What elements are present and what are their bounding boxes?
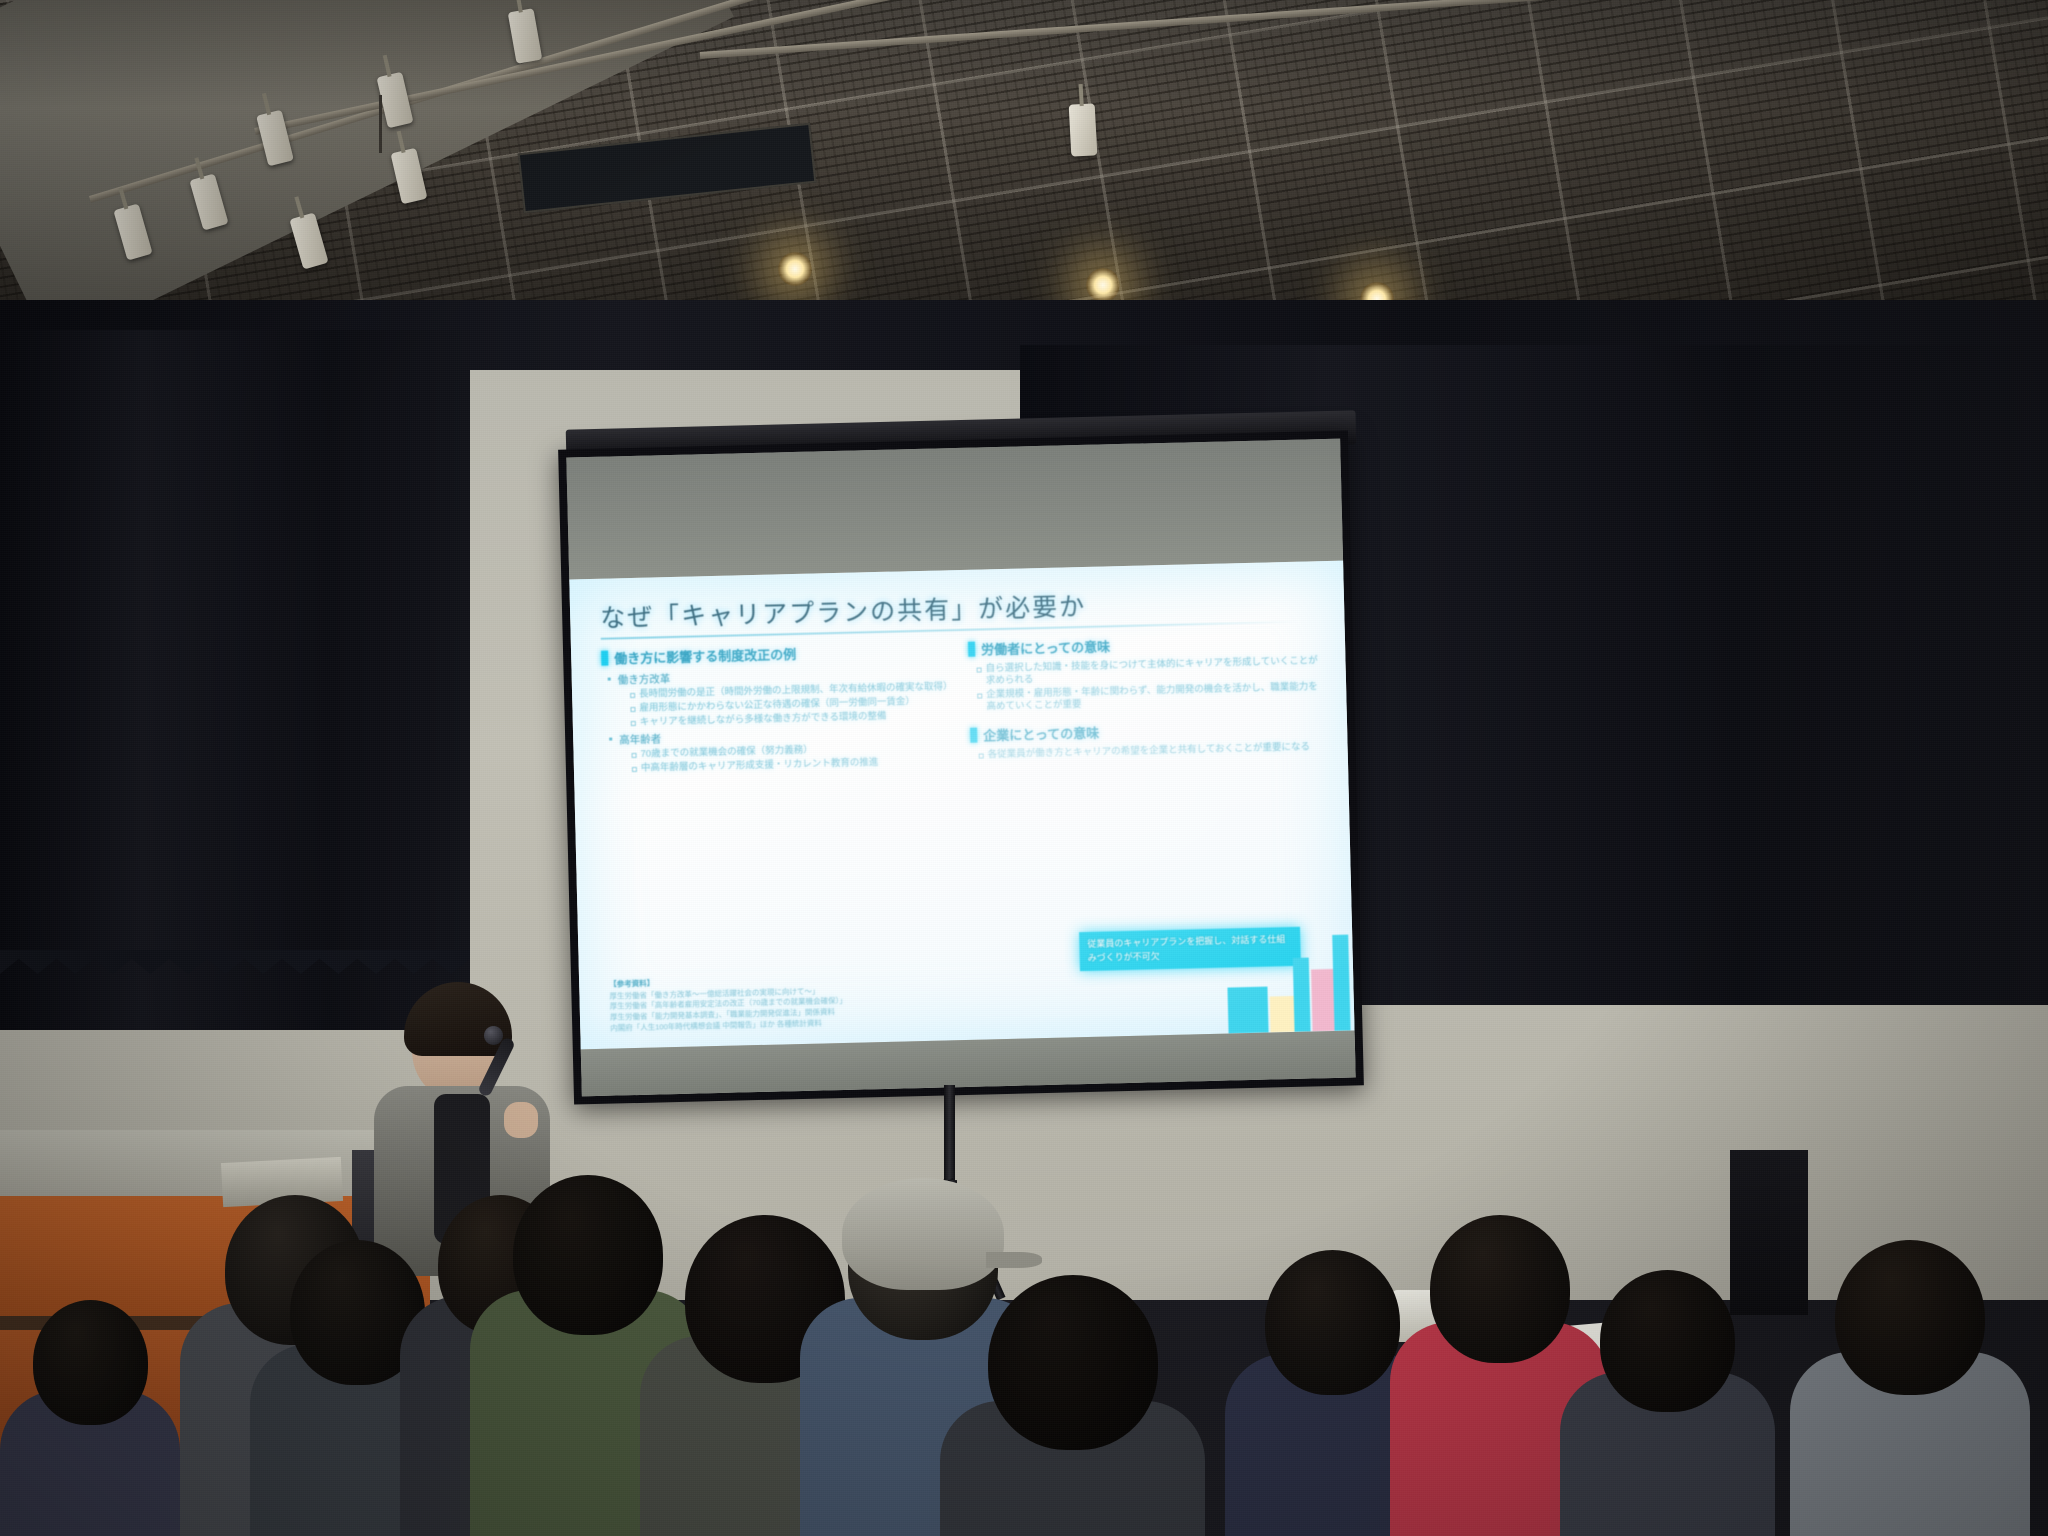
presenter-hair	[404, 982, 512, 1056]
slide-left-heading-text: 働き方に影響する制度改正の例	[614, 644, 796, 667]
stage-curtain-left	[0, 330, 470, 1030]
seminar-room-scene: なぜ「キャリアプランの共有」が必要か 働き方に影響する制度改正の例 働き方改	[0, 0, 2048, 1536]
microphone-head-icon	[484, 1026, 503, 1045]
attendee-head	[1430, 1215, 1570, 1363]
decorative-building-icon	[1332, 935, 1350, 1031]
projected-slide: なぜ「キャリアプランの共有」が必要か 働き方に影響する制度改正の例 働き方改	[569, 561, 1354, 1050]
slide-left-heading: 働き方に影響する制度改正の例	[601, 640, 952, 668]
bullet-marker-icon	[601, 651, 608, 666]
slide-title: なぜ「キャリアプランの共有」が必要か	[600, 581, 1319, 635]
slide-right-heading-text: 労働者にとっての意味	[981, 636, 1110, 658]
slide-right-column: 労働者にとっての意味 自ら選択した知識・技能を身につけて主体的にキャリアを形成し…	[968, 631, 1322, 769]
screen-blank-top	[566, 439, 1343, 580]
track-light	[1069, 103, 1098, 156]
attendee-head	[33, 1300, 148, 1425]
slide-left-sublist-2: 70歳までの就業機会の確保（努力義務） 中高年齢層のキャリア形成支援・リカレント…	[619, 741, 955, 775]
attendee-head	[988, 1275, 1158, 1450]
screen-tripod-post	[944, 1085, 955, 1190]
projection-screen: なぜ「キャリアプランの共有」が必要か 働き方に影響する制度改正の例 働き方改	[558, 430, 1364, 1104]
list-item-text: 高年齢者	[619, 733, 661, 746]
decorative-building-icon	[1293, 958, 1311, 1032]
slide-right-heading-worker: 労働者にとっての意味	[968, 631, 1319, 659]
slide-left-list: 働き方改革 長時間労働の是正（時間外労働の上限規制、年次有給休暇の確実な取得） …	[602, 664, 955, 775]
attendee-edge-right	[1790, 1240, 2030, 1536]
slide-left-column: 働き方に影響する制度改正の例 働き方改革 長時間労働の是正（時間外労働の上限規制…	[601, 640, 955, 778]
attendee-back-head	[940, 1275, 1205, 1536]
decorative-building-icon	[1227, 987, 1268, 1034]
slide-callout-box: 従業員のキャリアプランを把握し、対話する仕組みづくりが不可欠	[1079, 927, 1301, 971]
list-item: 各従業員が働き方とキャリアの希望を企業と共有しておくことが重要になる	[979, 741, 1322, 761]
attendee-far-left	[0, 1300, 180, 1536]
decorative-building-icon	[1270, 996, 1297, 1033]
list-item: 高年齢者 70歳までの就業機会の確保（努力義務） 中高年齢層のキャリア形成支援・…	[609, 724, 955, 775]
list-item-text: 働き方改革	[618, 673, 671, 686]
decorative-building-icon	[1311, 969, 1335, 1032]
slide-right-heading-company: 企業にとっての意味	[970, 717, 1321, 745]
attendee-head	[1835, 1240, 1985, 1395]
slide-left-sublist: 長時間労働の是正（時間外労働の上限規制、年次有給休暇の確実な取得） 雇用形態にか…	[618, 681, 954, 729]
flat-cap-icon	[842, 1178, 1004, 1290]
downlight-lamp	[1086, 268, 1120, 302]
attendee-head	[1265, 1250, 1400, 1395]
slide-right-heading-text-2: 企業にとっての意味	[983, 722, 1099, 744]
downlight-lamp	[778, 252, 812, 286]
slide-footnote: 【参考資料】 厚生労働省「働き方改革～一億総活躍社会の実現に向けて～」 厚生労働…	[609, 971, 940, 1034]
presenter-hand	[504, 1102, 538, 1138]
bullet-marker-icon	[970, 727, 977, 742]
attendee-far-right	[1560, 1270, 1775, 1536]
bullet-marker-icon	[968, 642, 975, 657]
slide-right-list-worker: 自ら選択した知識・技能を身につけて主体的にキャリアを形成していくことが求められる…	[968, 655, 1320, 713]
slide-right-list-company: 各従業員が働き方とキャリアの希望を企業と共有しておくことが重要になる	[971, 741, 1322, 761]
attendee-head	[1600, 1270, 1735, 1412]
flat-cap-brim	[986, 1252, 1042, 1268]
list-item: 働き方改革 長時間労働の是正（時間外労働の上限規制、年次有給休暇の確実な取得） …	[608, 664, 954, 729]
ceiling-pendant-rod	[379, 95, 382, 153]
screen-surface: なぜ「キャリアプランの共有」が必要か 働き方に影響する制度改正の例 働き方改	[566, 439, 1355, 1097]
